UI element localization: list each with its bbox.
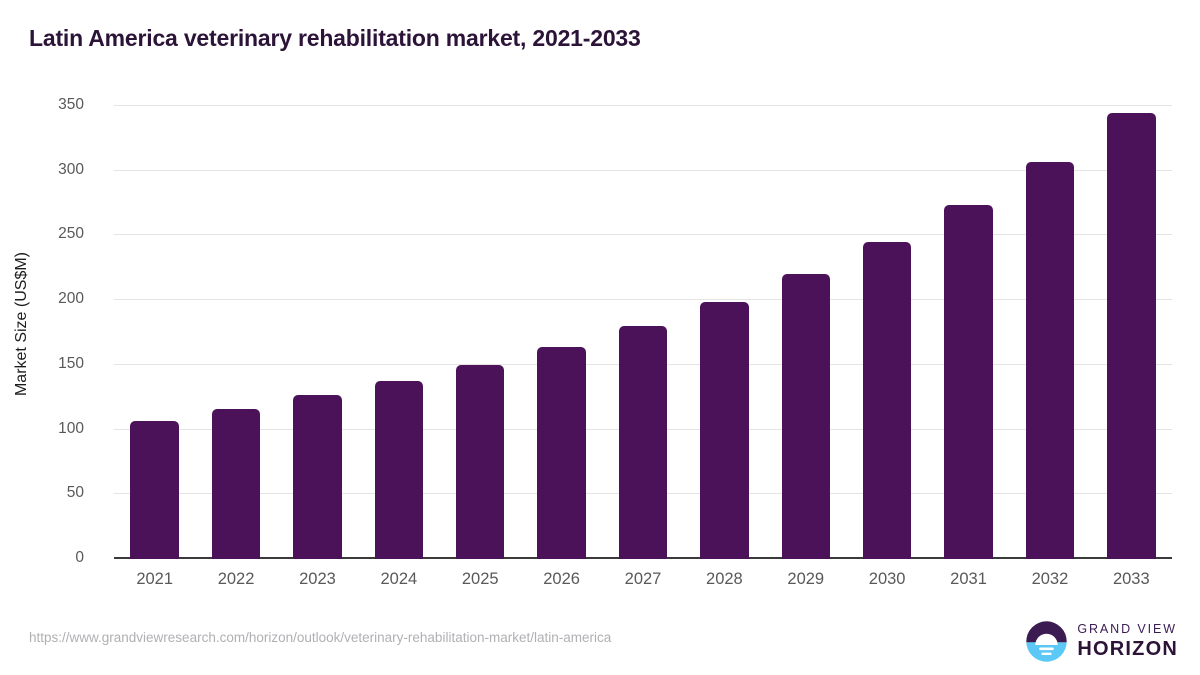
horizon-circle-icon bbox=[1025, 620, 1068, 663]
bar-2030[interactable] bbox=[863, 242, 911, 559]
bar-2022[interactable] bbox=[212, 409, 260, 559]
bar-2032[interactable] bbox=[1026, 162, 1074, 559]
x-tick-label: 2021 bbox=[115, 570, 195, 589]
bar-2024[interactable] bbox=[375, 381, 423, 559]
bar-2026[interactable] bbox=[537, 347, 585, 559]
x-tick-label: 2031 bbox=[929, 570, 1009, 589]
x-tick-label: 2028 bbox=[684, 570, 764, 589]
x-tick-label: 2025 bbox=[440, 570, 520, 589]
x-tick-label: 2033 bbox=[1091, 570, 1171, 589]
x-tick-label: 2026 bbox=[522, 570, 602, 589]
bar-2031[interactable] bbox=[944, 205, 992, 559]
x-tick-label: 2032 bbox=[1010, 570, 1090, 589]
bar-2021[interactable] bbox=[130, 421, 178, 559]
x-tick-label: 2024 bbox=[359, 570, 439, 589]
x-tick-label: 2027 bbox=[603, 570, 683, 589]
bars-group bbox=[0, 0, 1200, 559]
chart-canvas: Latin America veterinary rehabilitation … bbox=[0, 0, 1200, 675]
bar-2029[interactable] bbox=[782, 274, 830, 559]
x-tick-label: 2023 bbox=[277, 570, 357, 589]
bar-2027[interactable] bbox=[619, 326, 667, 559]
bar-2025[interactable] bbox=[456, 365, 504, 559]
logo-line-grand-view: GRAND VIEW bbox=[1077, 623, 1178, 636]
bar-2028[interactable] bbox=[700, 302, 748, 559]
x-tick-label: 2029 bbox=[766, 570, 846, 589]
logo-text: GRAND VIEW HORIZON bbox=[1077, 623, 1178, 659]
source-url[interactable]: https://www.grandviewresearch.com/horizo… bbox=[29, 630, 611, 645]
logo-line-horizon: HORIZON bbox=[1077, 639, 1178, 659]
x-tick-label: 2022 bbox=[196, 570, 276, 589]
x-tick-label: 2030 bbox=[847, 570, 927, 589]
bar-2023[interactable] bbox=[293, 395, 341, 559]
bar-2033[interactable] bbox=[1107, 113, 1155, 559]
grand-view-horizon-logo[interactable]: GRAND VIEW HORIZON bbox=[1025, 618, 1178, 664]
